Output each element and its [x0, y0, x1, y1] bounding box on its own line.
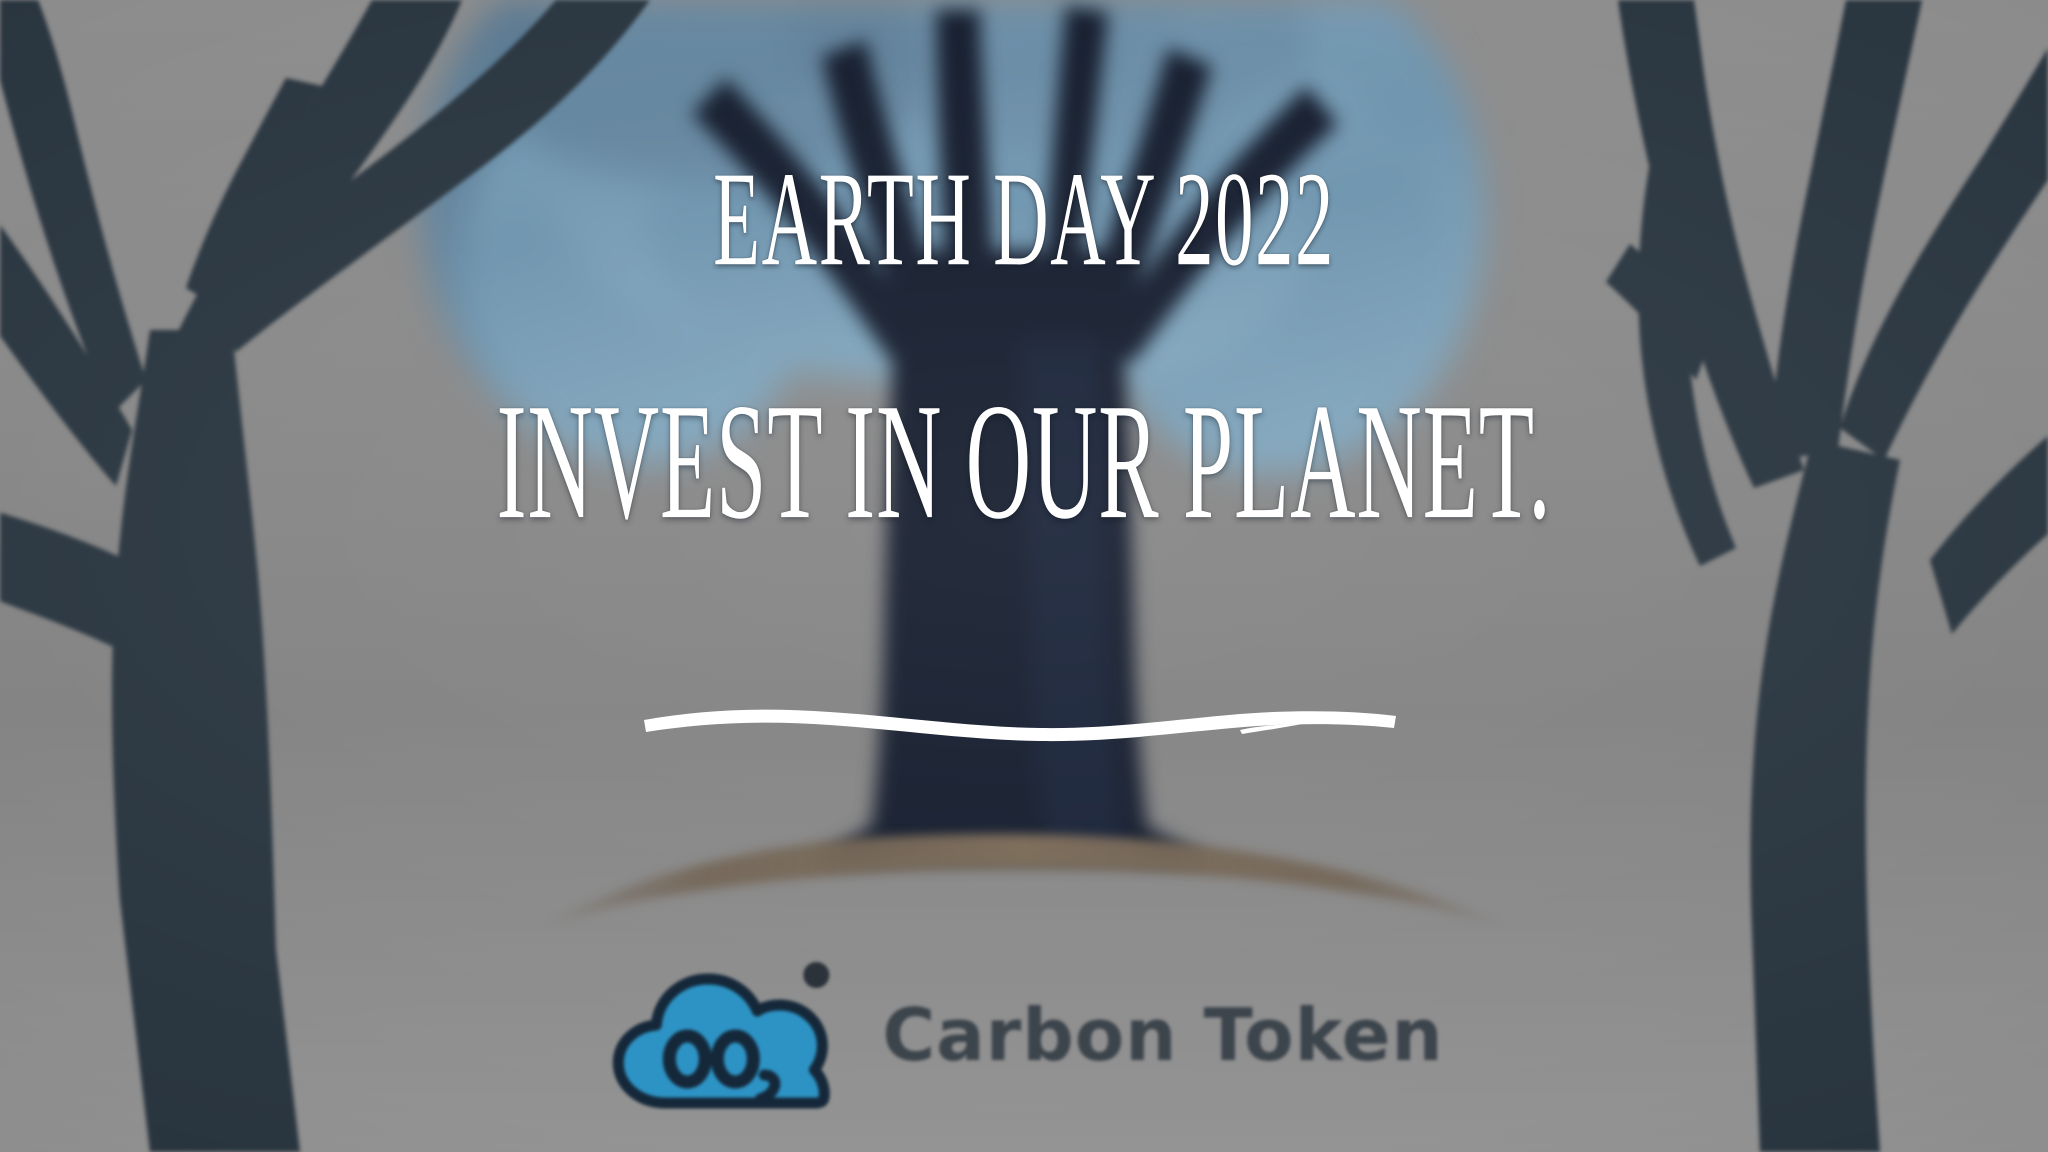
co2-cloud-icon	[604, 955, 854, 1115]
trademark-dot-icon	[803, 962, 829, 988]
carbon-token-wordmark: Carbon Token	[882, 999, 1443, 1071]
carbon-token-logo-lockup[interactable]: Carbon Token	[604, 955, 1443, 1115]
earth-day-poster: EARTH DAY 2022 INVEST IN OUR PLANET.	[0, 0, 2048, 1152]
